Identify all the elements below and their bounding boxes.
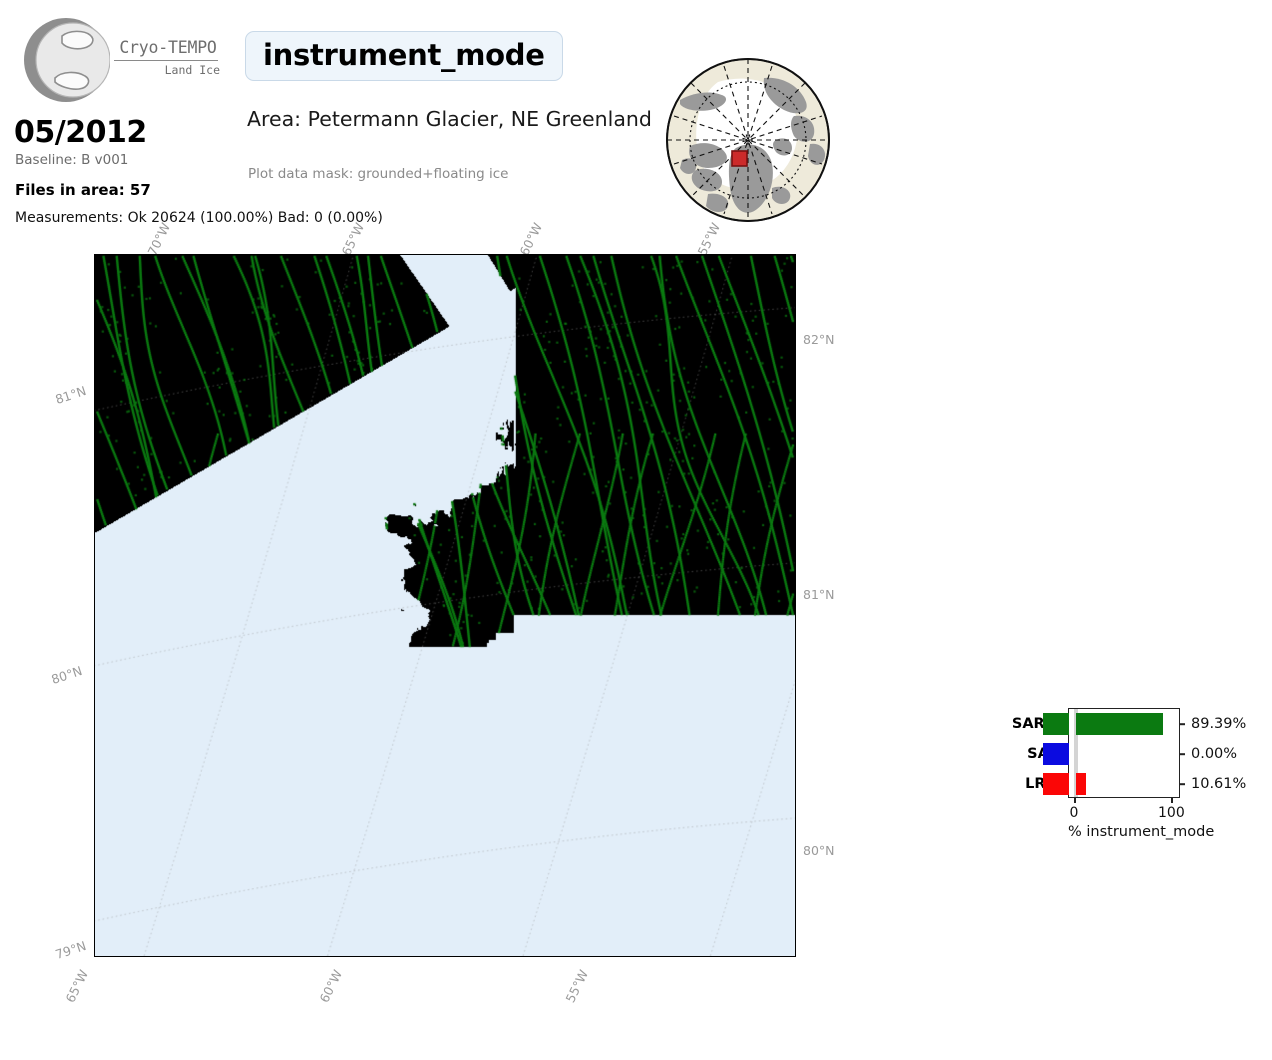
legend-swatch-lrm xyxy=(1043,773,1069,795)
logo-title: Cryo-TEMPO xyxy=(114,38,222,57)
instrument-mode-legend: SARin89.39%SAR0.00%LRM10.61%0100 % instr… xyxy=(1004,700,1262,850)
legend-tick-right-lrm xyxy=(1179,783,1185,785)
lat-label-left-81n: 81°N xyxy=(53,383,88,407)
lat-label-right-82n: 82°N xyxy=(803,332,835,347)
lon-label-bottom-65w: 65°W xyxy=(63,967,92,1005)
legend-x-axis-label: % instrument_mode xyxy=(1068,824,1180,840)
legend-bar-lrm xyxy=(1076,773,1086,795)
lon-label-top-70w: 70°W xyxy=(145,220,174,258)
area-label: Area: Petermann Glacier, NE Greenland xyxy=(247,107,652,131)
page-title: instrument_mode xyxy=(245,31,563,81)
lon-label-bottom-55w: 55°W xyxy=(563,967,592,1005)
legend-xtick-label-100: 100 xyxy=(1158,805,1185,821)
legend-xtick-label-0: 0 xyxy=(1070,805,1079,821)
logo-subtitle: Land Ice xyxy=(114,63,222,77)
baseline-label: Baseline: B v001 xyxy=(15,152,128,168)
legend-value-sarin: 89.39% xyxy=(1191,716,1246,732)
lon-label-top-65w: 65°W xyxy=(339,220,368,258)
legend-bar-sarin xyxy=(1076,713,1163,735)
legend-swatch-sarin xyxy=(1043,713,1069,735)
lon-label-top-60w: 60°W xyxy=(517,220,546,258)
legend-plot-area: SARin89.39%SAR0.00%LRM10.61%0100 xyxy=(1068,708,1180,798)
cryo-tempo-logo: Cryo-TEMPO Land Ice xyxy=(14,12,224,108)
lat-label-left-80n: 80°N xyxy=(49,663,84,687)
legend-tick-right-sarin xyxy=(1179,723,1185,725)
legend-tick-right-sar xyxy=(1179,753,1185,755)
legend-swatch-sar xyxy=(1043,743,1069,765)
logo-wordmark: Cryo-TEMPO Land Ice xyxy=(114,38,222,77)
location-marker xyxy=(732,151,747,166)
legend-value-sar: 0.00% xyxy=(1191,746,1237,762)
lat-label-right-81n: 81°N xyxy=(803,587,835,602)
legend-xtick-100 xyxy=(1171,797,1173,803)
lat-label-right-80n: 80°N xyxy=(803,843,835,858)
legend-xtick-0 xyxy=(1074,797,1076,803)
arctic-locator-globe xyxy=(664,56,832,224)
lon-label-top-55w: 55°W xyxy=(695,220,724,258)
measurements-label: Measurements: Ok 20624 (100.00%) Bad: 0 … xyxy=(15,210,383,226)
lat-label-left-79n: 79°N xyxy=(53,938,88,962)
globe-icon xyxy=(22,16,110,104)
plot-data-mask-label: Plot data mask: grounded+floating ice xyxy=(248,166,508,182)
files-in-area-label: Files in area: 57 xyxy=(15,181,151,199)
cryo-tempo-plot-page: Cryo-TEMPO Land Ice 05/2012 Baseline: B … xyxy=(0,0,1272,1060)
petermann-glacier-map[interactable] xyxy=(94,254,796,957)
map-raster xyxy=(95,255,795,956)
legend-value-lrm: 10.61% xyxy=(1191,776,1246,792)
lon-label-bottom-60w: 60°W xyxy=(317,967,346,1005)
date-label: 05/2012 xyxy=(14,115,147,150)
logo-divider xyxy=(114,60,218,61)
